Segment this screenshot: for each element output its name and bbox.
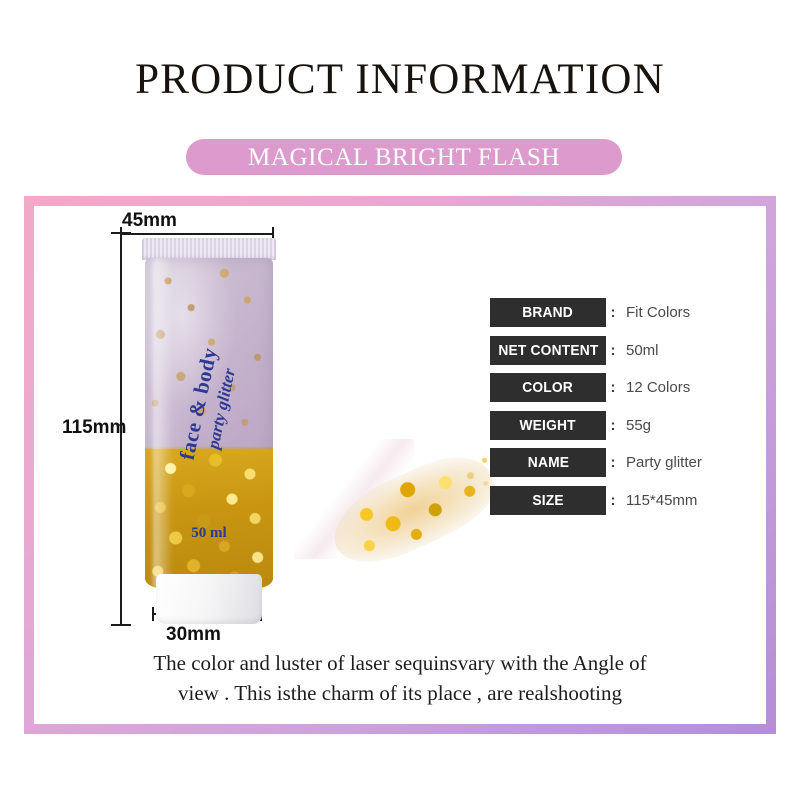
dimension-label-width-bottom: 30mm [166, 624, 221, 646]
tube-volume-label: 50 ml [191, 525, 226, 542]
dimension-label-width-top: 45mm [122, 210, 177, 232]
spec-value-size: 115*45mm [620, 492, 697, 509]
dimension-tick-height-bottom [111, 624, 131, 626]
dimension-line-width-top [120, 233, 274, 235]
spec-row: BRAND : Fit Colors [490, 298, 730, 327]
spec-value-color: 12 Colors [620, 379, 690, 396]
product-caption: The color and luster of laser sequinsvar… [90, 648, 710, 709]
product-information-page: PRODUCT INFORMATION MAGICAL BRIGHT FLASH… [0, 0, 800, 800]
spec-key-label: NET CONTENT [498, 342, 598, 359]
spec-separator: : [606, 342, 620, 359]
spec-key-label: WEIGHT [520, 417, 576, 434]
spec-row: SIZE : 115*45mm [490, 486, 730, 515]
spec-row: COLOR : 12 Colors [490, 373, 730, 402]
spec-value-name: Party glitter [620, 454, 702, 471]
dimension-label-height: 115mm [62, 417, 126, 439]
spec-value-brand: Fit Colors [620, 304, 690, 321]
spec-value-net-content: 50ml [620, 342, 659, 359]
subtitle-badge: MAGICAL BRIGHT FLASH [186, 139, 622, 175]
spec-separator: : [606, 379, 620, 396]
spec-separator: : [606, 304, 620, 321]
tube-cap [156, 574, 262, 624]
spec-value-weight: 55g [620, 417, 651, 434]
spec-key-label: NAME [527, 454, 568, 471]
tube-crimp-seal [142, 238, 276, 260]
caption-line-1: The color and luster of laser sequinsvar… [90, 648, 710, 678]
spec-row: NAME : Party glitter [490, 448, 730, 477]
product-tube-image: face & body party glitter 50 ml [136, 238, 282, 620]
spec-row: WEIGHT : 55g [490, 411, 730, 440]
spec-key-label: SIZE [532, 492, 563, 509]
spec-key-label: BRAND [523, 304, 574, 321]
spec-separator: : [606, 492, 620, 509]
spec-row: NET CONTENT : 50ml [490, 336, 730, 365]
spec-key-color: COLOR [490, 373, 606, 402]
spec-table: BRAND : Fit Colors NET CONTENT : 50ml CO… [490, 298, 730, 523]
spec-separator: : [606, 454, 620, 471]
spec-key-net-content: NET CONTENT [490, 336, 606, 365]
caption-line-2: view . This isthe charm of its place , a… [90, 678, 710, 708]
spec-separator: : [606, 417, 620, 434]
subtitle-badge-label: MAGICAL BRIGHT FLASH [248, 145, 560, 170]
tube-highlight [153, 258, 173, 588]
spec-key-label: COLOR [523, 379, 574, 396]
spec-key-size: SIZE [490, 486, 606, 515]
spec-key-name: NAME [490, 448, 606, 477]
spec-key-weight: WEIGHT [490, 411, 606, 440]
spec-key-brand: BRAND [490, 298, 606, 327]
page-title: PRODUCT INFORMATION [0, 58, 800, 101]
dimension-tick-height-top [111, 232, 131, 234]
